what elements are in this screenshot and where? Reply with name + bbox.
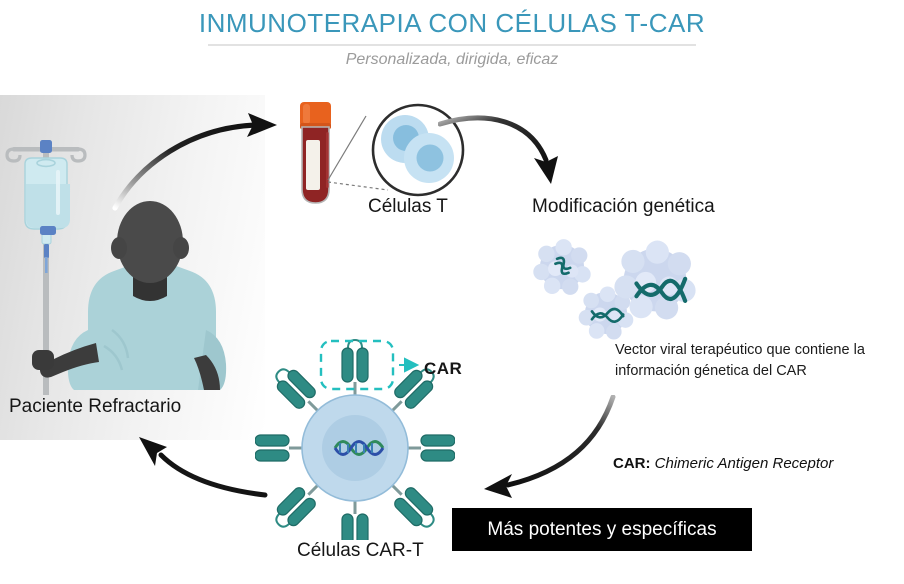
curved-arrow-vector-to-cart <box>470 395 630 515</box>
highlight-banner: Más potentes y específicas <box>452 508 752 551</box>
curved-arrow-tube-to-modification <box>438 112 583 192</box>
viral-vector-capsid-icon <box>520 235 710 345</box>
caption-patient: Paciente Refractario <box>9 396 181 418</box>
page-subtitle: Personalizada, dirigida, eficaz <box>0 51 904 69</box>
curved-arrow-cart-to-patient <box>125 425 305 530</box>
caption-car-t-cells: Células CAR-T <box>297 540 424 562</box>
caption-t-cells: Células T <box>368 196 448 218</box>
car-abbreviation-legend: CAR: Chimeric Antigen Receptor <box>613 455 833 472</box>
car-legend-abbr: CAR: <box>613 455 651 472</box>
infographic-canvas: INMUNOTERAPIA CON CÉLULAS T-CAR Personal… <box>0 0 904 584</box>
title-divider <box>208 44 696 46</box>
caption-car-label: CAR <box>424 359 462 379</box>
vector-description-text: Vector viral terapéutico que contiene la… <box>615 340 865 382</box>
caption-genetic-modification: Modificación genética <box>532 196 715 218</box>
page-title: INMUNOTERAPIA CON CÉLULAS T-CAR <box>0 8 904 39</box>
curved-arrow-patient-to-tube <box>95 108 310 213</box>
car-pointer-arrow-icon <box>399 359 417 371</box>
car-legend-expansion: Chimeric Antigen Receptor <box>655 455 834 472</box>
